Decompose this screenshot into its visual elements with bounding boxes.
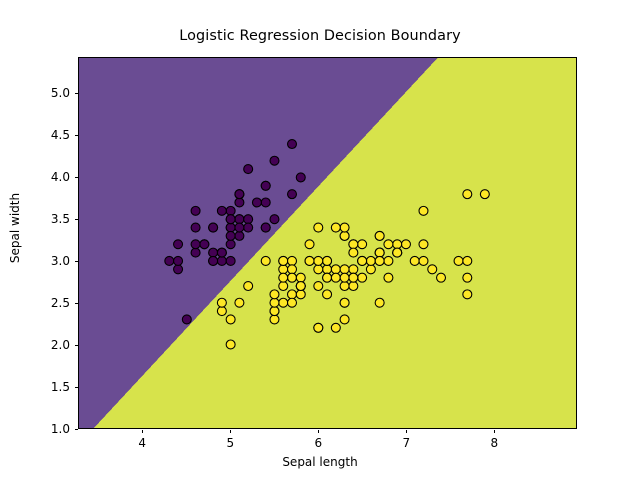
scatter-point bbox=[270, 215, 279, 224]
scatter-point bbox=[410, 256, 419, 265]
scatter-point bbox=[288, 265, 297, 274]
scatter-point bbox=[296, 290, 305, 299]
scatter-point bbox=[235, 198, 244, 207]
scatter-point bbox=[235, 298, 244, 307]
scatter-point bbox=[296, 273, 305, 282]
scatter-point bbox=[288, 140, 297, 149]
scatter-point bbox=[358, 273, 367, 282]
scatter-point bbox=[191, 206, 200, 215]
scatter-point bbox=[191, 248, 200, 257]
scatter-point bbox=[419, 240, 428, 249]
x-tick-label: 6 bbox=[314, 436, 322, 450]
scatter-point bbox=[288, 190, 297, 199]
scatter-point bbox=[384, 240, 393, 249]
scatter-point bbox=[288, 290, 297, 299]
y-tick-label: 5.0 bbox=[51, 86, 70, 100]
scatter-point bbox=[340, 223, 349, 232]
scatter-point bbox=[419, 206, 428, 215]
scatter-point bbox=[279, 282, 288, 291]
scatter-point bbox=[270, 315, 279, 324]
scatter-point bbox=[401, 240, 410, 249]
x-axis-label: Sepal length bbox=[0, 455, 640, 469]
scatter-point bbox=[200, 240, 209, 249]
scatter-point bbox=[270, 290, 279, 299]
y-tick-mark bbox=[75, 261, 79, 262]
scatter-point bbox=[463, 190, 472, 199]
scatter-point bbox=[340, 298, 349, 307]
scatter-point bbox=[393, 240, 402, 249]
scatter-point bbox=[323, 290, 332, 299]
scatter-point bbox=[165, 256, 174, 265]
scatter-point bbox=[323, 265, 332, 274]
y-tick-mark bbox=[75, 345, 79, 346]
scatter-point bbox=[314, 256, 323, 265]
scatter-point bbox=[305, 240, 314, 249]
scatter-point bbox=[244, 223, 253, 232]
scatter-point bbox=[244, 165, 253, 174]
x-tick-label: 5 bbox=[226, 436, 234, 450]
scatter-point bbox=[279, 265, 288, 274]
scatter-point bbox=[349, 265, 358, 274]
scatter-point bbox=[428, 265, 437, 274]
scatter-point bbox=[209, 256, 218, 265]
scatter-point bbox=[182, 315, 191, 324]
scatter-point bbox=[226, 231, 235, 240]
scatter-point bbox=[261, 181, 270, 190]
scatter-point bbox=[331, 273, 340, 282]
scatter-point bbox=[191, 223, 200, 232]
scatter-point bbox=[393, 248, 402, 257]
scatter-point bbox=[437, 273, 446, 282]
scatter-point bbox=[463, 273, 472, 282]
scatter-point bbox=[454, 256, 463, 265]
y-tick-mark bbox=[75, 387, 79, 388]
figure-canvas: Logistic Regression Decision Boundary 1.… bbox=[0, 0, 640, 480]
scatter-point bbox=[226, 215, 235, 224]
scatter-point bbox=[174, 265, 183, 274]
scatter-point bbox=[235, 231, 244, 240]
scatter-point bbox=[419, 256, 428, 265]
scatter-point bbox=[384, 256, 393, 265]
scatter-point bbox=[288, 298, 297, 307]
scatter-point bbox=[261, 256, 270, 265]
scatter-point bbox=[375, 231, 384, 240]
chart-title: Logistic Regression Decision Boundary bbox=[0, 28, 640, 44]
y-tick-label: 3.5 bbox=[51, 212, 70, 226]
scatter-point bbox=[226, 340, 235, 349]
scatter-point bbox=[305, 256, 314, 265]
x-tick-mark bbox=[406, 430, 407, 434]
scatter-point bbox=[217, 248, 226, 257]
scatter-point bbox=[209, 223, 218, 232]
x-tick-mark bbox=[142, 430, 143, 434]
scatter-point bbox=[340, 231, 349, 240]
y-tick-mark bbox=[75, 303, 79, 304]
y-tick-mark bbox=[75, 219, 79, 220]
plot-area bbox=[78, 57, 577, 429]
scatter-point bbox=[323, 273, 332, 282]
y-tick-mark bbox=[75, 177, 79, 178]
x-tick-label: 7 bbox=[402, 436, 410, 450]
scatter-point bbox=[358, 240, 367, 249]
y-axis-ticklabels: 1.01.52.02.53.03.54.04.55.0 bbox=[18, 0, 70, 480]
scatter-point bbox=[235, 215, 244, 224]
scatter-point bbox=[384, 273, 393, 282]
scatter-point bbox=[279, 273, 288, 282]
scatter-point bbox=[331, 223, 340, 232]
scatter-point bbox=[349, 248, 358, 257]
scatter-point bbox=[235, 190, 244, 199]
scatter-point bbox=[340, 282, 349, 291]
scatter-points-layer bbox=[79, 58, 576, 428]
y-axis-label: Sepal width bbox=[8, 128, 22, 328]
scatter-point bbox=[340, 265, 349, 274]
scatter-point bbox=[314, 223, 323, 232]
scatter-point bbox=[235, 223, 244, 232]
scatter-point bbox=[217, 206, 226, 215]
y-axis-tickmarks bbox=[75, 0, 79, 480]
y-tick-label: 2.5 bbox=[51, 296, 70, 310]
scatter-point bbox=[375, 298, 384, 307]
y-tick-label: 1.5 bbox=[51, 380, 70, 394]
scatter-point bbox=[331, 265, 340, 274]
x-tick-mark bbox=[318, 430, 319, 434]
x-axis-tickmarks bbox=[0, 430, 640, 434]
scatter-point bbox=[270, 156, 279, 165]
scatter-point bbox=[463, 290, 472, 299]
scatter-point bbox=[174, 240, 183, 249]
scatter-point bbox=[261, 223, 270, 232]
scatter-point bbox=[226, 206, 235, 215]
scatter-point bbox=[358, 256, 367, 265]
y-tick-mark bbox=[75, 135, 79, 136]
scatter-point bbox=[288, 273, 297, 282]
x-tick-mark bbox=[494, 430, 495, 434]
scatter-point bbox=[174, 256, 183, 265]
scatter-point bbox=[375, 248, 384, 257]
scatter-point bbox=[463, 256, 472, 265]
scatter-point bbox=[314, 282, 323, 291]
scatter-point bbox=[366, 256, 375, 265]
scatter-point bbox=[340, 273, 349, 282]
scatter-point bbox=[349, 282, 358, 291]
y-tick-label: 2.0 bbox=[51, 338, 70, 352]
x-tick-mark bbox=[230, 430, 231, 434]
x-tick-label: 4 bbox=[138, 436, 146, 450]
scatter-point bbox=[226, 240, 235, 249]
scatter-point bbox=[331, 323, 340, 332]
scatter-point bbox=[296, 173, 305, 182]
scatter-point bbox=[244, 215, 253, 224]
scatter-point bbox=[296, 282, 305, 291]
scatter-point bbox=[288, 256, 297, 265]
scatter-point bbox=[244, 282, 253, 291]
y-tick-label: 4.0 bbox=[51, 170, 70, 184]
scatter-point bbox=[480, 190, 489, 199]
scatter-point bbox=[366, 265, 375, 274]
y-tick-label: 3.0 bbox=[51, 254, 70, 268]
scatter-point bbox=[217, 307, 226, 316]
scatter-point bbox=[323, 256, 332, 265]
scatter-point bbox=[279, 298, 288, 307]
scatter-point bbox=[209, 248, 218, 257]
x-axis-ticklabels: 45678 bbox=[0, 436, 640, 456]
scatter-point bbox=[349, 240, 358, 249]
x-tick-label: 8 bbox=[490, 436, 498, 450]
y-tick-label: 4.5 bbox=[51, 128, 70, 142]
scatter-point bbox=[226, 315, 235, 324]
y-tick-mark bbox=[75, 93, 79, 94]
scatter-point bbox=[217, 256, 226, 265]
scatter-point bbox=[314, 323, 323, 332]
scatter-point bbox=[279, 256, 288, 265]
scatter-point bbox=[340, 315, 349, 324]
scatter-point bbox=[217, 298, 226, 307]
scatter-point bbox=[314, 265, 323, 274]
scatter-point bbox=[270, 307, 279, 316]
scatter-point bbox=[191, 240, 200, 249]
scatter-point bbox=[226, 256, 235, 265]
scatter-point bbox=[375, 256, 384, 265]
scatter-point bbox=[270, 298, 279, 307]
scatter-point bbox=[252, 198, 261, 207]
scatter-point bbox=[226, 223, 235, 232]
scatter-point bbox=[349, 273, 358, 282]
scatter-point bbox=[261, 198, 270, 207]
